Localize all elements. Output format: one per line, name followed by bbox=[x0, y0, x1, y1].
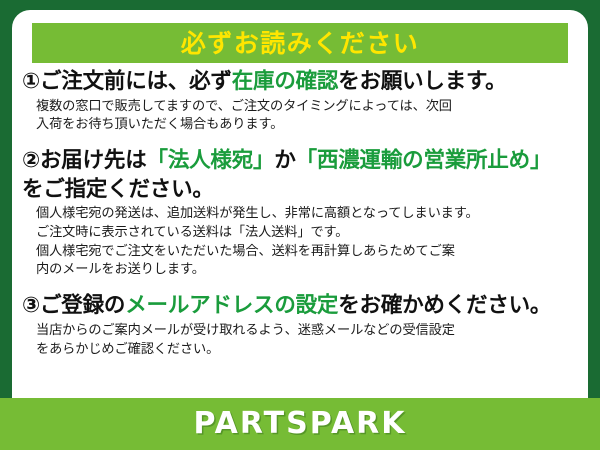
body-line: 入荷をお待ち頂いただく場合もあります。 bbox=[36, 116, 580, 135]
notice-item-2-heading: ②お届け先は「法人様宛」か「西濃運輸の営業所止め」 bbox=[22, 147, 580, 176]
heading-segment: ③ご登録の bbox=[22, 293, 125, 318]
body-line: ご注文時に表示されている送料は「法人送料」です。 bbox=[36, 224, 580, 243]
header-bar: 必ずお読みください bbox=[32, 23, 568, 63]
heading-highlight: 「法人様宛」 bbox=[147, 148, 275, 173]
notice-item-2-heading-line2: をご指定ください。 bbox=[22, 176, 580, 205]
notice-item-3-heading: ③ご登録のメールアドレスの設定をお確かめください。 bbox=[22, 292, 580, 321]
brand-logo: PARTSPARK bbox=[193, 409, 406, 439]
heading-segment: をお願いします。 bbox=[338, 69, 506, 94]
heading-segment: をお確かめください。 bbox=[338, 293, 551, 318]
notice-content: ①ご注文前には、必ず在庫の確認をお願いします。 複数の窓口で販売してますので、ご… bbox=[12, 68, 588, 361]
footer-band: PARTSPARK bbox=[0, 398, 600, 450]
notice-item-1-body: 複数の窓口で販売してますので、ご注文のタイミングによっては、次回 入荷をお待ち頂… bbox=[22, 98, 580, 135]
body-line: 当店からのご案内メールが受け取れるよう、迷惑メールなどの受信設定 bbox=[36, 322, 580, 341]
heading-segment: ①ご注文前には、必ず bbox=[22, 69, 232, 94]
notice-item-3: ③ご登録のメールアドレスの設定をお確かめください。 当店からのご案内メールが受け… bbox=[22, 292, 580, 359]
heading-highlight: 在庫の確認 bbox=[232, 69, 339, 94]
heading-segment: か bbox=[274, 148, 295, 173]
notice-item-2-body: 個人様宅宛の発送は、追加送料が発生し、非常に高額となってしまいます。 ご注文時に… bbox=[22, 205, 580, 280]
body-line: をあらかじめご確認ください。 bbox=[36, 341, 580, 360]
notice-panel: 必ずお読みください ①ご注文前には、必ず在庫の確認をお願いします。 複数の窓口で… bbox=[12, 10, 588, 398]
notice-banner: 必ずお読みください ①ご注文前には、必ず在庫の確認をお願いします。 複数の窓口で… bbox=[0, 0, 600, 450]
notice-item-3-body: 当店からのご案内メールが受け取れるよう、迷惑メールなどの受信設定 をあらかじめご… bbox=[22, 322, 580, 359]
heading-highlight: 「西濃運輸の営業所止め」 bbox=[296, 148, 552, 173]
heading-segment: ②お届け先は bbox=[22, 148, 147, 173]
heading-highlight: メールアドレスの設定 bbox=[125, 293, 338, 318]
body-line: 複数の窓口で販売してますので、ご注文のタイミングによっては、次回 bbox=[36, 98, 580, 117]
notice-item-1: ①ご注文前には、必ず在庫の確認をお願いします。 複数の窓口で販売してますので、ご… bbox=[22, 68, 580, 135]
notice-item-2: ②お届け先は「法人様宛」か「西濃運輸の営業所止め」 をご指定ください。 個人様宅… bbox=[22, 147, 580, 280]
body-line: 個人様宅宛の発送は、追加送料が発生し、非常に高額となってしまいます。 bbox=[36, 205, 580, 224]
notice-item-1-heading: ①ご注文前には、必ず在庫の確認をお願いします。 bbox=[22, 68, 580, 97]
body-line: 個人様宅宛でご注文をいただいた場合、送料を再計算しあらためてご案 bbox=[36, 243, 580, 262]
body-line: 内のメールをお送りします。 bbox=[36, 261, 580, 280]
page-title: 必ずお読みください bbox=[181, 31, 420, 56]
